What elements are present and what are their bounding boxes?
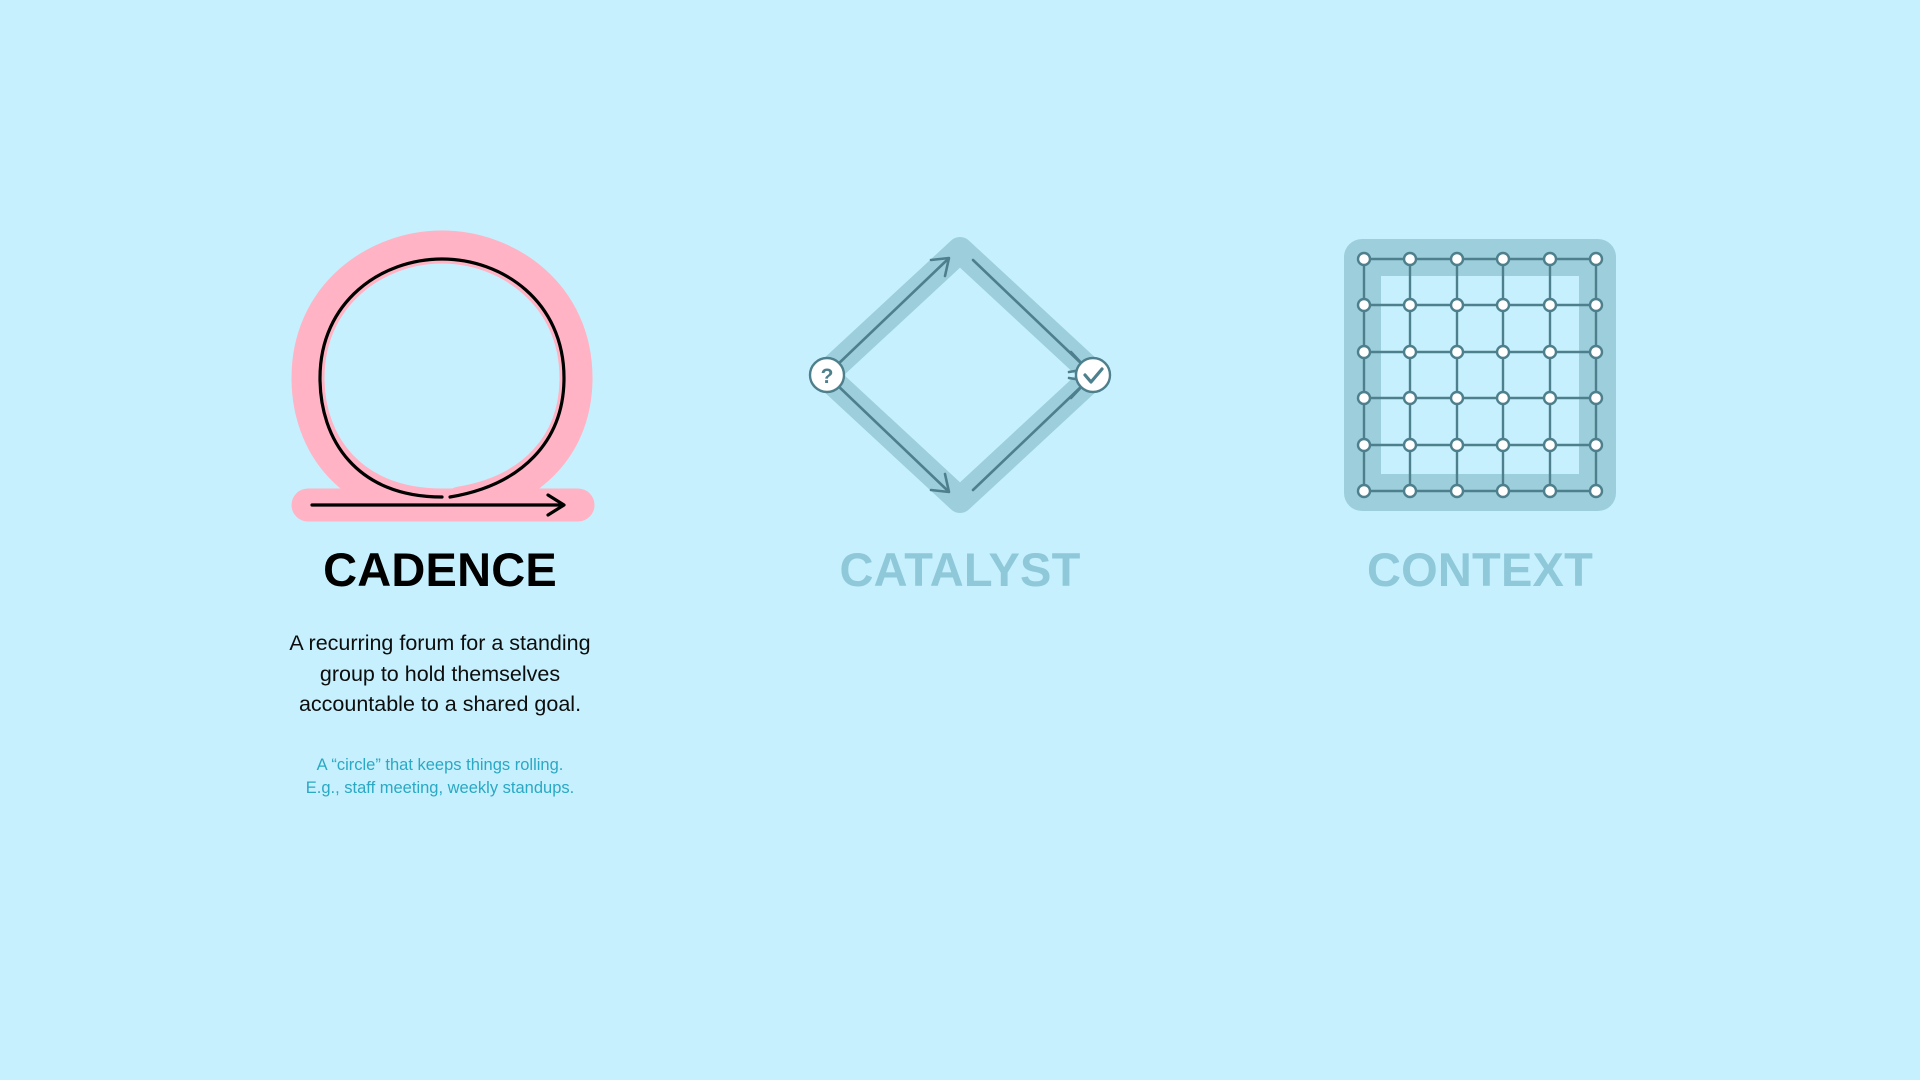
concept-title-context: CONTEXT	[1367, 546, 1593, 593]
concept-description-cadence: A recurring forum for a standing group t…	[280, 628, 600, 720]
icon-slot-context	[1300, 230, 1660, 520]
question-mark-icon: ?	[821, 365, 834, 388]
cadence-loop-band	[308, 247, 576, 505]
icon-slot-cadence	[260, 230, 620, 520]
catalyst-check-badge[interactable]	[1076, 358, 1110, 392]
diamond-flow-icon: ?	[805, 230, 1115, 520]
catalyst-arrow-shaft-upper-left	[835, 260, 947, 367]
catalyst-question-badge[interactable]: ?	[810, 358, 844, 392]
check-badge-circle	[1076, 358, 1110, 392]
looping-circle-arrow-icon	[290, 233, 590, 518]
concept-card-cadence[interactable]: CADENCE A recurring forum for a standing…	[180, 230, 700, 801]
concept-title-cadence: CADENCE	[323, 546, 557, 593]
catalyst-arrow-shaft-lower-right	[973, 383, 1085, 490]
concept-example-cadence: A “circle” that keeps things rolling. E.…	[275, 754, 605, 802]
slide-canvas: CADENCE A recurring forum for a standing…	[0, 0, 1920, 1080]
catalyst-arrow-shaft-upper-right	[973, 260, 1085, 367]
concept-card-context[interactable]: CONTEXT	[1220, 230, 1740, 593]
catalyst-arrow-shaft-lower-left	[835, 383, 947, 490]
concept-card-catalyst[interactable]: ? CATALYST	[700, 230, 1220, 593]
icon-slot-catalyst: ?	[780, 230, 1140, 520]
concept-title-catalyst: CATALYST	[840, 546, 1081, 593]
dot-grid-icon	[1344, 239, 1616, 511]
concept-row: CADENCE A recurring forum for a standing…	[180, 230, 1740, 801]
catalyst-diamond-band	[825, 250, 1095, 500]
